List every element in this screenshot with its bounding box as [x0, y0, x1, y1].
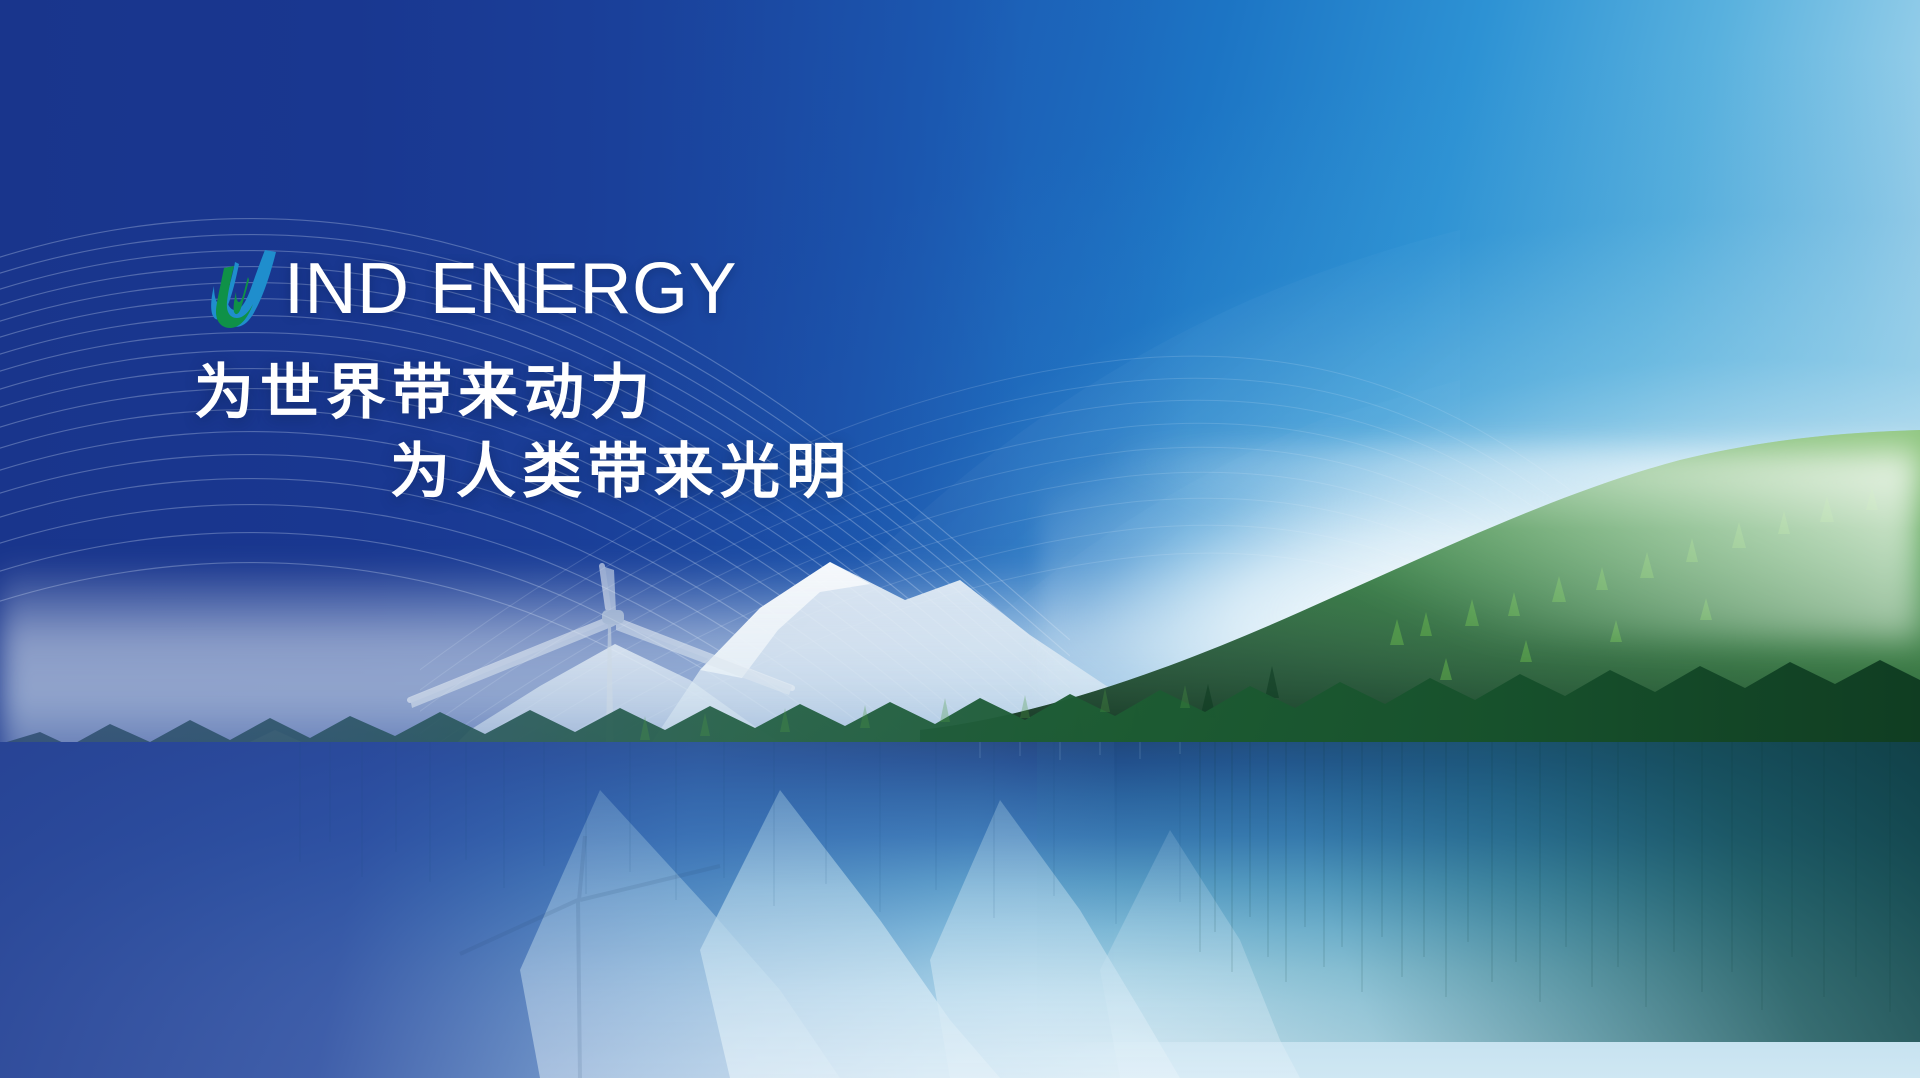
lake-vertical-streaks [0, 742, 1920, 1078]
slogan-line-2: 为人类带来光明 [194, 432, 1294, 511]
hero-content: IND ENERGY 为世界带来动力 为人类带来光明 [194, 243, 1294, 511]
slogan-line-1: 为世界带来动力 [194, 353, 1294, 432]
hero-banner: IND ENERGY 为世界带来动力 为人类带来光明 [0, 0, 1920, 1078]
turbine-reflection [420, 830, 750, 1078]
brand-lockup: IND ENERGY [194, 243, 1294, 335]
wind-w-mark-icon [194, 246, 286, 332]
brand-wordmark: IND ENERGY [284, 253, 737, 325]
slogan-block: 为世界带来动力 为人类带来光明 [194, 353, 1294, 511]
